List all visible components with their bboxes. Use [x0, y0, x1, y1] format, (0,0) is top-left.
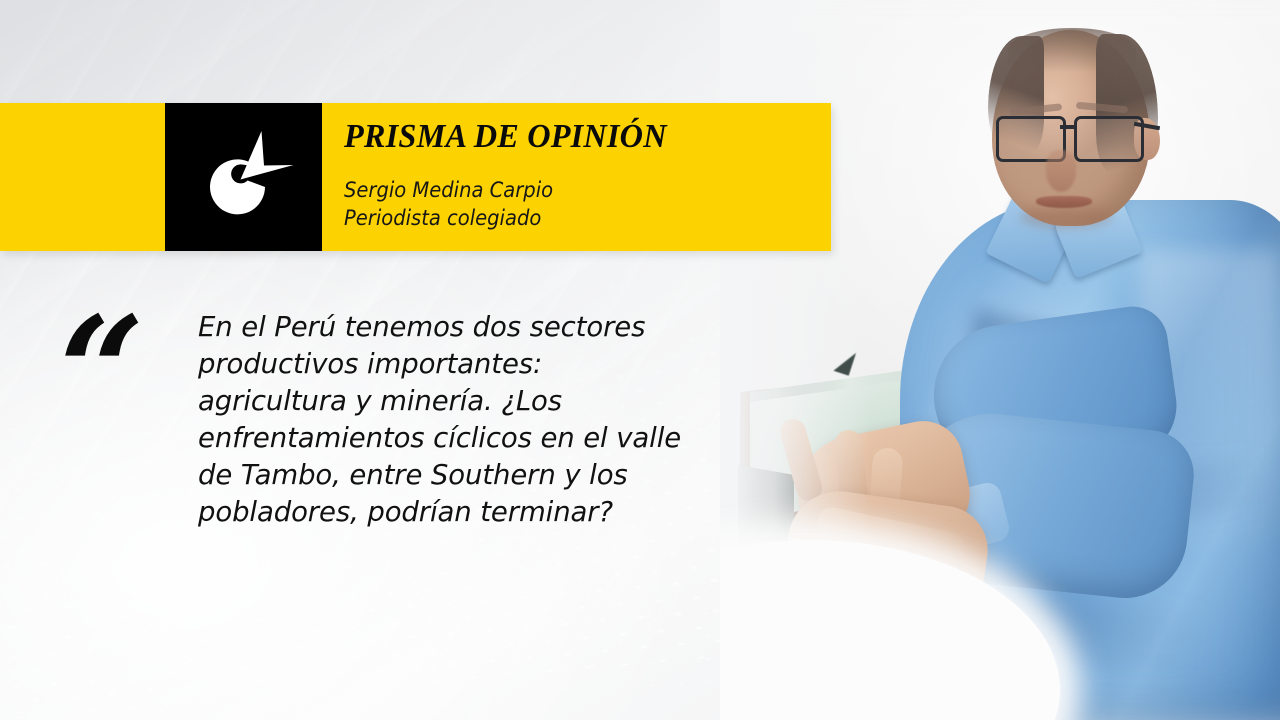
author-block: Sergio Medina Carpio Periodista colegiad…: [344, 176, 553, 232]
prisma-swoosh-logo-icon: [187, 121, 299, 233]
author-name: Sergio Medina Carpio: [344, 176, 553, 204]
quote-text: En el Perú tenemos dos sectores producti…: [198, 309, 698, 531]
author-role: Periodista colegiado: [344, 204, 553, 232]
logo-container: [165, 103, 322, 251]
page-title: PRISMA DE OPINIÓN: [344, 118, 667, 156]
opinion-column-graphic: PRISMA DE OPINIÓN Sergio Medina Carpio P…: [0, 0, 1280, 720]
